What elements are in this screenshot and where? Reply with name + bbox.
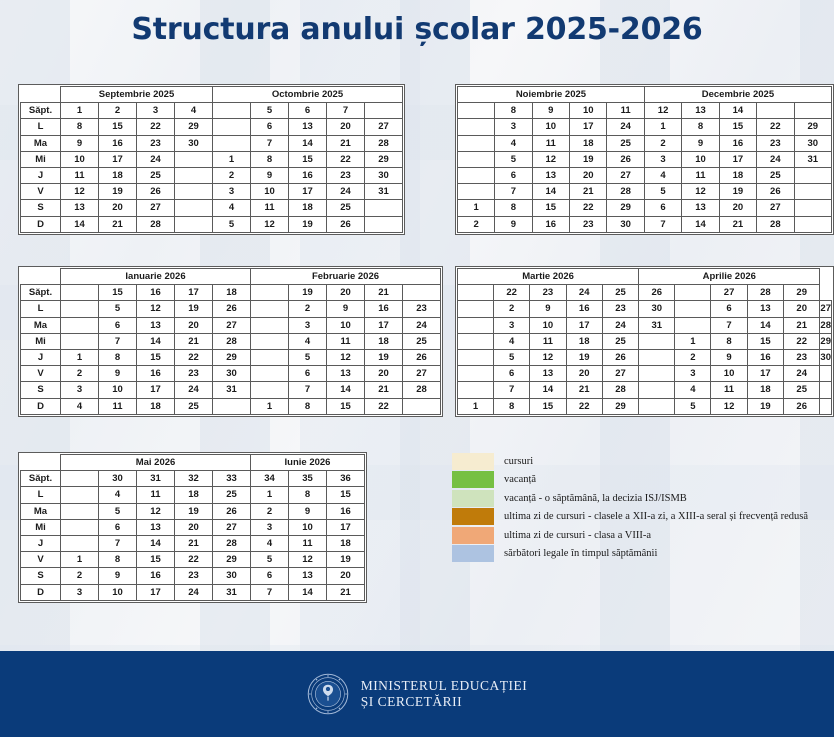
day-cell: 21 [570,184,607,200]
calendar-row: 411182518152229 [458,333,832,349]
day-cell: 18 [99,167,137,183]
day-cell: 28 [137,216,175,232]
day-cell: 20 [566,366,602,382]
calendar-row: 71421285121926 [458,184,832,200]
week-number-cell: 9 [532,103,569,119]
day-cell: 12 [137,301,175,317]
day-cell-empty [794,167,831,183]
day-cell: 3 [61,382,99,398]
day-cell: 26 [602,349,638,365]
ministry-name-line1: MINISTERUL EDUCAȚIEI [361,678,528,694]
day-cell: 23 [757,135,794,151]
week-number-empty [61,285,99,301]
month-header-row: Noiembrie 2025Decembrie 2025 [458,87,832,103]
day-cell-empty [251,366,289,382]
page-title: Structura anului școlar 2025-2026 [0,12,834,47]
ministry-name: MINISTERUL EDUCAȚIEI ȘI CERCETĂRII [361,678,528,710]
day-cell-empty [458,333,494,349]
day-cell: 5 [493,349,529,365]
day-cell: 18 [365,333,403,349]
day-name-label: J [21,535,61,551]
week-number-empty [403,285,441,301]
day-cell: 18 [175,487,213,503]
day-cell: 15 [532,200,569,216]
footer-bar: MINISTERUL EDUCAȚIEI ȘI CERCETĂRII [0,651,834,737]
calendar-table-ian-feb: Ianuarie 2026Februarie 2026Săpt.15161718… [20,268,441,415]
day-cell: 14 [137,333,175,349]
day-cell: 6 [99,519,137,535]
calendar-row: 411182529162330 [458,135,832,151]
day-cell: 2 [644,135,681,151]
day-cell: 15 [327,398,365,414]
day-cell: 28 [213,535,251,551]
week-number-cell: 19 [289,285,327,301]
day-name-label: S [21,382,61,398]
day-cell-empty [175,216,213,232]
day-cell: 11 [682,167,719,183]
day-cell: 23 [175,568,213,584]
day-cell: 25 [602,333,638,349]
legend-swatch-xii [452,508,494,525]
day-cell: 28 [365,135,403,151]
day-cell: 3 [251,519,289,535]
day-cell: 23 [602,301,638,317]
day-cell: 28 [820,317,832,333]
day-cell: 1 [213,151,251,167]
day-cell: 18 [327,535,365,551]
day-cell: 16 [327,503,365,519]
day-cell-empty [175,167,213,183]
day-cell: 9 [711,349,747,365]
calendar-row: D4111825181522 [21,398,441,414]
week-number-cell: 27 [711,285,747,301]
week-number-row: 2223242526272829 [458,285,832,301]
week-number-cell: 3 [137,103,175,119]
day-cell: 25 [137,167,175,183]
day-cell: 27 [213,317,251,333]
day-cell: 27 [403,366,441,382]
day-cell: 24 [175,382,213,398]
day-cell-empty [458,151,495,167]
day-cell: 4 [289,333,327,349]
day-cell: 15 [137,349,175,365]
week-number-empty [757,103,794,119]
day-cell: 11 [530,333,566,349]
day-cell: 17 [747,366,783,382]
day-name-label: Mi [21,333,61,349]
calendar-row: S1320274111825 [21,200,403,216]
day-cell: 9 [99,568,137,584]
day-cell-empty [175,184,213,200]
day-cell: 30 [794,135,831,151]
day-cell: 31 [639,317,675,333]
day-cell: 11 [61,167,99,183]
ministry-brand: MINISTERUL EDUCAȚIEI ȘI CERCETĂRII [307,673,528,715]
day-cell: 10 [289,519,327,535]
day-cell: 29 [213,349,251,365]
calendar-row: 291623307142128 [458,216,832,232]
day-cell: 25 [403,333,441,349]
week-number-cell: 8 [495,103,532,119]
day-cell: 27 [602,366,638,382]
day-cell: 17 [327,519,365,535]
day-name-label: Ma [21,135,61,151]
legend-item-cursuri: cursuri [452,452,832,471]
day-cell: 28 [607,184,644,200]
day-cell: 16 [747,349,783,365]
day-cell-empty [458,349,494,365]
day-cell: 9 [251,167,289,183]
day-cell: 5 [675,398,711,414]
day-cell-empty [251,382,289,398]
day-cell: 4 [493,333,529,349]
day-cell: 17 [570,119,607,135]
day-name-label: Mi [21,519,61,535]
day-cell: 26 [607,151,644,167]
day-cell: 15 [137,552,175,568]
day-cell: 9 [289,503,327,519]
month-title: Decembrie 2025 [644,87,831,103]
week-number-cell: 29 [784,285,820,301]
day-cell: 26 [137,184,175,200]
day-cell: 10 [711,366,747,382]
day-cell: 1 [644,119,681,135]
day-cell-empty [639,382,675,398]
day-cell: 18 [570,135,607,151]
day-cell: 28 [403,382,441,398]
day-cell: 20 [327,119,365,135]
day-cell: 14 [747,317,783,333]
week-number-cell: 7 [327,103,365,119]
day-cell: 17 [719,151,756,167]
day-cell: 13 [747,301,783,317]
day-cell: 22 [566,398,602,414]
day-cell: 27 [137,200,175,216]
day-cell-empty [61,317,99,333]
day-cell: 5 [213,216,251,232]
day-cell-empty [175,200,213,216]
day-cell: 10 [61,151,99,167]
day-cell: 13 [327,366,365,382]
day-cell: 11 [251,200,289,216]
day-cell: 9 [495,216,532,232]
calendar-row: J11182529162330 [21,167,403,183]
day-cell-empty [403,398,441,414]
day-cell: 5 [495,151,532,167]
week-number-empty [794,103,831,119]
month-header-row: Martie 2026Aprilie 2026 [458,269,832,285]
day-cell: 28 [757,216,794,232]
day-cell: 12 [137,503,175,519]
day-cell-empty [61,535,99,551]
week-number-empty [675,285,711,301]
day-cell: 30 [607,216,644,232]
calendar-row: 512192629162330 [458,349,832,365]
week-number-cell: 15 [99,285,137,301]
day-cell: 12 [61,184,99,200]
day-name-label: S [21,568,61,584]
day-cell: 5 [251,552,289,568]
day-cell: 16 [532,216,569,232]
day-name-label: Ma [21,503,61,519]
month-title: Februarie 2026 [251,269,441,285]
calendar-row: S2916233061320 [21,568,365,584]
day-cell: 8 [289,487,327,503]
week-number-cell: 26 [639,285,675,301]
day-cell: 21 [566,382,602,398]
week-number-empty [251,285,289,301]
week-number-cell: 20 [327,285,365,301]
header-spacer [21,269,61,285]
day-cell: 23 [137,135,175,151]
day-cell: 12 [530,349,566,365]
day-cell: 8 [711,333,747,349]
day-cell: 7 [711,317,747,333]
week-number-row: Săpt.15161718192021 [21,285,441,301]
day-cell: 7 [251,584,289,600]
day-cell: 31 [213,584,251,600]
legend-item-sarbatori: sărbători legale în timpul săptămânii [452,545,832,564]
day-cell: 29 [794,119,831,135]
month-header-row: Septembrie 2025Octombrie 2025 [21,87,403,103]
week-number-cell: 12 [644,103,681,119]
day-cell-empty [61,503,99,519]
day-cell: 3 [675,366,711,382]
legend-swatch-cursuri [452,453,494,470]
week-number-cell: 2 [99,103,137,119]
day-cell: 20 [719,200,756,216]
day-name-label: V [21,366,61,382]
week-number-cell: 22 [493,285,529,301]
week-number-cell: 18 [213,285,251,301]
day-cell: 15 [719,119,756,135]
week-label-header: Săpt. [21,471,61,487]
week-number-cell: 16 [137,285,175,301]
legend-label-vacanta1: vacanță - o săptămână, la decizia ISJ/IS… [504,493,687,504]
day-cell: 26 [213,301,251,317]
header-spacer [21,455,61,471]
calendar-row: J181522295121926 [21,349,441,365]
day-cell: 17 [566,317,602,333]
day-name-label: J [21,349,61,365]
day-cell: 29 [365,151,403,167]
day-cell: 11 [711,382,747,398]
day-cell-empty [820,382,832,398]
day-cell: 25 [175,398,213,414]
day-cell: 24 [757,151,794,167]
day-cell: 20 [99,200,137,216]
day-cell: 7 [495,184,532,200]
calendar-row: 61320274111825 [458,167,832,183]
day-cell: 12 [532,151,569,167]
day-cell: 20 [175,317,213,333]
day-cell: 13 [289,568,327,584]
month-title: Aprilie 2026 [639,269,820,285]
day-cell-empty [794,184,831,200]
legend-swatch-sarbatori [452,545,494,562]
day-cell: 18 [719,167,756,183]
day-cell: 18 [747,382,783,398]
day-cell: 22 [175,349,213,365]
week-label-header: Săpt. [21,285,61,301]
day-cell: 26 [403,349,441,365]
day-cell: 9 [99,366,137,382]
day-cell: 27 [365,119,403,135]
day-cell: 9 [327,301,365,317]
day-cell: 17 [137,584,175,600]
day-cell: 23 [403,301,441,317]
week-number-cell: 21 [365,285,403,301]
day-cell: 22 [570,200,607,216]
month-title: Iunie 2026 [251,455,365,471]
header-spacer [21,87,61,103]
day-cell-empty [794,200,831,216]
day-cell: 6 [251,568,289,584]
day-cell-empty [639,333,675,349]
calendar-row: Mi10172418152229 [21,151,403,167]
legend-swatch-vacanta [452,471,494,488]
day-cell: 27 [607,167,644,183]
week-number-empty [213,103,251,119]
week-number-cell: 30 [99,471,137,487]
calendar-row: V121926310172431 [21,184,403,200]
day-cell-empty [365,216,403,232]
day-cell: 8 [251,151,289,167]
day-cell: 25 [757,167,794,183]
day-cell: 1 [458,200,495,216]
day-cell: 14 [682,216,719,232]
week-number-cell: 11 [607,103,644,119]
day-cell: 2 [213,167,251,183]
day-cell-empty [61,301,99,317]
week-number-cell: 5 [251,103,289,119]
day-cell: 1 [61,552,99,568]
day-cell: 5 [99,301,137,317]
day-cell: 10 [99,382,137,398]
day-cell-empty [213,398,251,414]
day-name-label: L [21,487,61,503]
day-cell: 21 [719,216,756,232]
day-cell: 21 [327,584,365,600]
calendar-row: D1421285121926 [21,216,403,232]
day-cell: 27 [820,301,832,317]
month-title: Martie 2026 [458,269,639,285]
day-cell: 30 [639,301,675,317]
week-number-cell: 6 [289,103,327,119]
week-number-cell: 28 [747,285,783,301]
day-cell: 1 [251,487,289,503]
day-cell-empty [675,301,711,317]
week-number-cell: 17 [175,285,213,301]
day-cell: 10 [532,119,569,135]
day-cell-empty [251,349,289,365]
legend-swatch-vacanta1 [452,490,494,507]
day-cell-empty [675,317,711,333]
day-cell: 14 [530,382,566,398]
day-cell: 7 [99,535,137,551]
day-cell-empty [213,119,251,135]
week-number-cell: 23 [530,285,566,301]
day-cell: 19 [365,349,403,365]
day-cell: 3 [495,119,532,135]
calendar-block-sep-oct: Septembrie 2025Octombrie 2025Săpt.123456… [18,84,405,235]
calendar-table-mai-iun: Mai 2026Iunie 2026Săpt.30313233343536L41… [20,454,365,601]
day-cell: 21 [327,135,365,151]
legend-label-cursuri: cursuri [504,456,533,467]
day-cell: 29 [602,398,638,414]
day-cell: 28 [213,333,251,349]
calendar-row: 3101724317142128 [458,317,832,333]
week-number-cell: 4 [175,103,213,119]
day-cell: 18 [289,200,327,216]
week-number-empty [458,103,495,119]
calendar-row: 5121926310172431 [458,151,832,167]
day-cell-empty [61,519,99,535]
day-cell: 20 [327,568,365,584]
day-cell: 19 [175,301,213,317]
day-cell: 22 [365,398,403,414]
day-cell: 20 [570,167,607,183]
calendar-row: S3101724317142128 [21,382,441,398]
day-cell-empty [61,333,99,349]
day-cell-empty [458,167,495,183]
day-cell: 8 [495,200,532,216]
day-cell: 21 [365,382,403,398]
day-cell: 10 [530,317,566,333]
day-cell: 15 [99,119,137,135]
day-cell-empty [251,301,289,317]
day-cell: 31 [213,382,251,398]
calendar-table-mar-apr: Martie 2026Aprilie 202622232425262728292… [457,268,832,415]
day-cell: 3 [61,584,99,600]
day-cell: 13 [682,200,719,216]
week-number-empty [365,103,403,119]
day-cell: 10 [682,151,719,167]
day-cell: 7 [251,135,289,151]
day-cell: 11 [289,535,327,551]
day-cell: 6 [289,366,327,382]
day-cell-empty [458,366,494,382]
day-cell-empty [639,349,675,365]
legend-swatch-viii [452,527,494,544]
day-cell-empty [251,317,289,333]
day-cell: 9 [530,301,566,317]
day-cell: 31 [365,184,403,200]
calendar-block-nov-dec: Noiembrie 2025Decembrie 2025891011121314… [455,84,834,235]
day-cell: 7 [644,216,681,232]
day-cell: 9 [61,135,99,151]
romania-government-seal-icon [307,673,349,715]
month-title: Noiembrie 2025 [458,87,645,103]
day-cell: 24 [403,317,441,333]
calendar-row: L41118251815 [21,487,365,503]
day-cell: 22 [137,119,175,135]
day-cell: 19 [747,398,783,414]
day-cell: 10 [327,317,365,333]
day-cell: 26 [784,398,820,414]
day-cell-empty [458,184,495,200]
day-cell: 13 [137,519,175,535]
week-number-cell: 35 [289,471,327,487]
day-cell: 19 [99,184,137,200]
day-cell: 12 [711,398,747,414]
day-name-label: Mi [21,151,61,167]
day-cell: 13 [137,317,175,333]
day-cell: 24 [137,151,175,167]
day-name-label: L [21,301,61,317]
day-cell: 15 [747,333,783,349]
day-cell: 19 [570,151,607,167]
